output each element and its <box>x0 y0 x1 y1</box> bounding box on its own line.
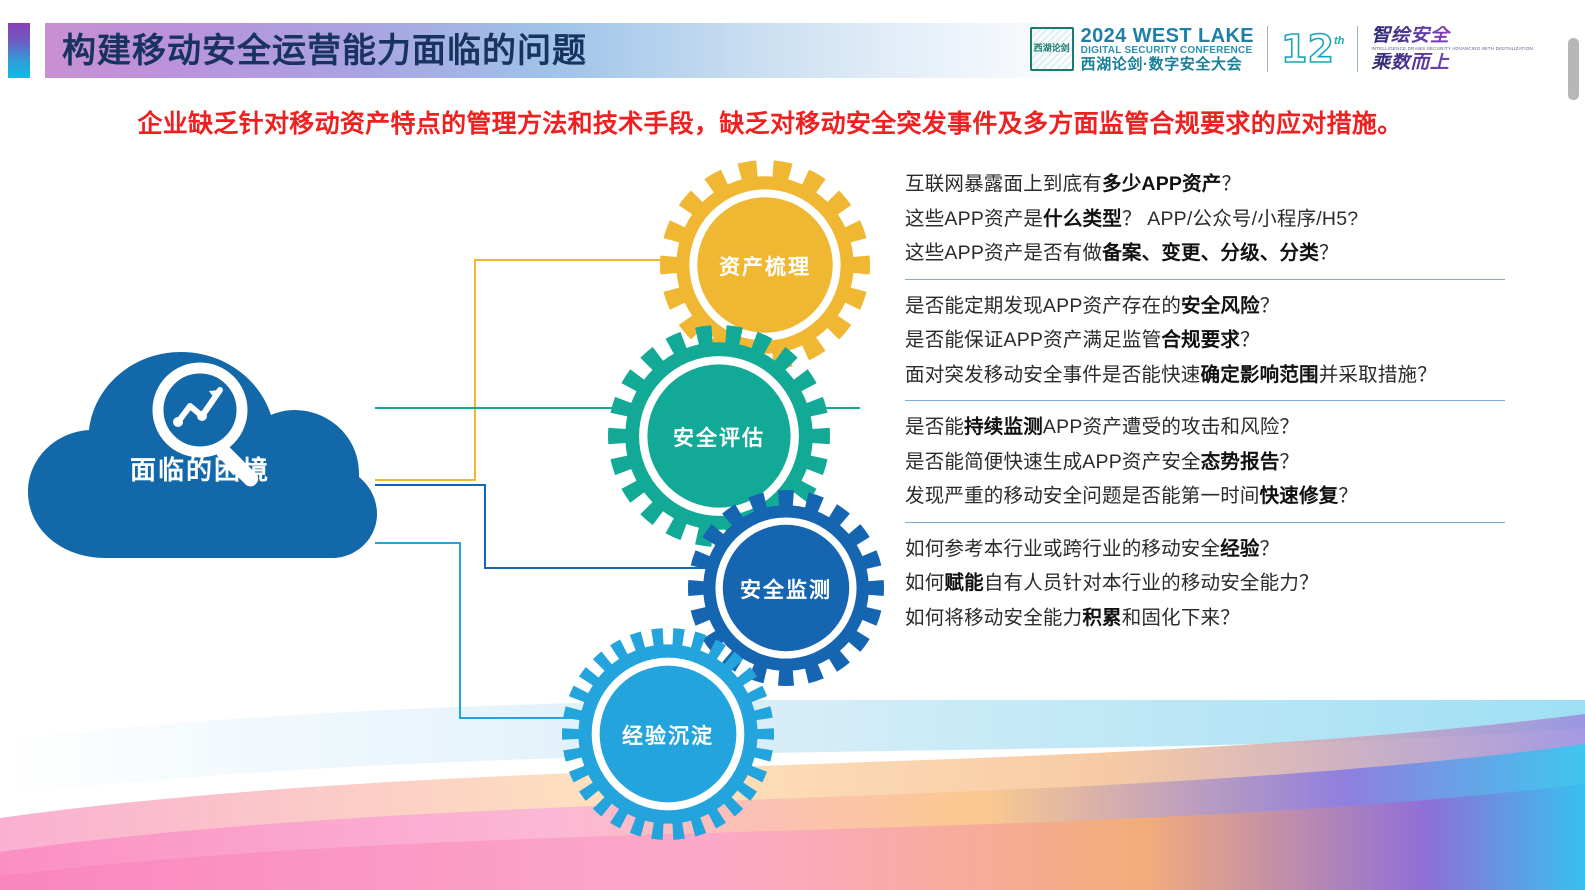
question-block-4: 如何参考本行业或跨行业的移动安全经验？如何赋能自有人员针对本行业的移动安全能力？… <box>905 540 1505 629</box>
plain-text: ？ <box>1260 538 1280 560</box>
block-divider <box>905 400 1505 401</box>
west-lake-logo: 西湖论剑 2024 WEST LAKE DIGITAL SECURITY CON… <box>1030 26 1254 72</box>
plain-text: 这些APP资产是否有做 <box>905 242 1102 264</box>
logo-divider-1 <box>1267 26 1268 72</box>
highlight-text: 经验 <box>1220 538 1259 560</box>
highlight-text: 持续监测 <box>964 416 1043 438</box>
highlight-text: 备案、变更、分级、分类 <box>1102 242 1319 264</box>
logo-line-1: 2024 WEST LAKE <box>1081 26 1254 46</box>
plain-text: 面对突发移动安全事件是否能快速 <box>905 364 1201 386</box>
highlight-text: 多少APP资产 <box>1102 173 1222 195</box>
gear-label-2: 安全评估 <box>608 422 830 452</box>
slogan-line-2: 乘数而上 <box>1371 53 1533 72</box>
gear-label-1: 资产梳理 <box>660 251 870 281</box>
gear-label-3: 安全监测 <box>688 574 884 604</box>
plain-text: 互联网暴露面上到底有 <box>905 173 1102 195</box>
plain-text: ？ <box>1222 173 1242 195</box>
plain-text: 这些APP资产是 <box>905 208 1043 230</box>
slogan-logo: 智绘安全 INTELLIGENCE DRAWS SECURITY ADVANCI… <box>1371 26 1533 72</box>
highlight-text: 态势报告 <box>1201 451 1280 473</box>
question-blocks: 互联网暴露面上到底有多少APP资产？这些APP资产是什么类型？ APP/公众号/… <box>905 175 1505 643</box>
highlight-text: 确定影响范围 <box>1201 364 1319 386</box>
scrollbar-thumb[interactable] <box>1568 38 1579 100</box>
conference-logos: 西湖论剑 2024 WEST LAKE DIGITAL SECURITY CON… <box>1030 18 1533 80</box>
title-accent-bar <box>8 23 30 78</box>
plain-text: 是否能定期发现APP资产存在的 <box>905 295 1181 317</box>
page-title: 构建移动安全运营能力面临的问题 <box>62 26 587 76</box>
highlight-text: 积累 <box>1082 607 1121 629</box>
question-line: 是否能持续监测APP资产遭受的攻击和风险？ <box>905 418 1505 438</box>
question-line: 这些APP资产是什么类型？ APP/公众号/小程序/H5? <box>905 210 1505 230</box>
plain-text: ？ <box>1260 295 1280 317</box>
question-line: 是否能简便快速生成APP资产安全态势报告？ <box>905 453 1505 473</box>
question-line: 互联网暴露面上到底有多少APP资产？ <box>905 175 1505 195</box>
plain-text: ？ <box>1240 329 1260 351</box>
plain-text: 如何参考本行业或跨行业的移动安全 <box>905 538 1220 560</box>
highlight-text: 什么类型 <box>1043 208 1122 230</box>
edition-number: 12 <box>1281 32 1334 67</box>
question-line: 面对突发移动安全事件是否能快速确定影响范围并采取措施？ <box>905 366 1505 386</box>
highlight-text: 合规要求 <box>1161 329 1240 351</box>
plain-text: 是否能保证APP资产满足监管 <box>905 329 1161 351</box>
plain-text: APP资产遭受的攻击和风险？ <box>1043 416 1299 438</box>
edition-badge: 12 th <box>1281 32 1344 67</box>
cloud-label: 面临的困境 <box>10 450 390 487</box>
logo-line-3: 西湖论剑·数字安全大会 <box>1081 57 1254 72</box>
plain-text: 发现严重的移动安全问题是否能第一时间 <box>905 485 1260 507</box>
plain-text: 如何将移动安全能力 <box>905 607 1082 629</box>
plain-text: ？ APP/公众号/小程序/H5? <box>1122 208 1358 230</box>
plain-text: ？ <box>1338 485 1358 507</box>
plain-text: ？ <box>1280 451 1300 473</box>
highlight-text: 安全风险 <box>1181 295 1260 317</box>
subtitle-statement: 企业缺乏针对移动资产特点的管理方法和技术手段，缺乏对移动安全突发事件及多方面监管… <box>0 104 1540 140</box>
question-block-2: 是否能定期发现APP资产存在的安全风险？是否能保证APP资产满足监管合规要求？面… <box>905 297 1505 386</box>
plain-text: 是否能简便快速生成APP资产安全 <box>905 451 1201 473</box>
logo-divider-2 <box>1357 26 1358 72</box>
plain-text: 并采取措施？ <box>1319 364 1437 386</box>
question-line: 发现严重的移动安全问题是否能第一时间快速修复？ <box>905 487 1505 507</box>
question-line: 是否能定期发现APP资产存在的安全风险？ <box>905 297 1505 317</box>
cloud-shape <box>10 320 390 570</box>
highlight-text: 快速修复 <box>1260 485 1339 507</box>
gear-4[interactable]: 经验沉淀 <box>562 628 774 840</box>
question-line: 是否能保证APP资产满足监管合规要求？ <box>905 331 1505 351</box>
slogan-line-1: 智绘安全 <box>1371 26 1533 45</box>
plain-text: 是否能 <box>905 416 964 438</box>
plain-text: 自有人员针对本行业的移动安全能力？ <box>984 572 1319 594</box>
west-lake-seal-icon: 西湖论剑 <box>1030 27 1074 71</box>
question-block-1: 互联网暴露面上到底有多少APP资产？这些APP资产是什么类型？ APP/公众号/… <box>905 175 1505 264</box>
slide-header: 构建移动安全运营能力面临的问题 西湖论剑 2024 WEST LAKE DIGI… <box>0 0 1585 95</box>
gear-label-4: 经验沉淀 <box>562 720 774 750</box>
block-divider <box>905 279 1505 280</box>
edition-suffix: th <box>1334 35 1344 47</box>
question-line: 如何赋能自有人员针对本行业的移动安全能力？ <box>905 574 1505 594</box>
logo-line-2: DIGITAL SECURITY CONFERENCE <box>1081 46 1254 56</box>
block-divider <box>905 522 1505 523</box>
plain-text: 如何 <box>905 572 944 594</box>
slogan-subtext: INTELLIGENCE DRAWS SECURITY ADVANCING WI… <box>1371 46 1533 52</box>
question-line: 这些APP资产是否有做备案、变更、分级、分类？ <box>905 244 1505 264</box>
question-block-3: 是否能持续监测APP资产遭受的攻击和风险？是否能简便快速生成APP资产安全态势报… <box>905 418 1505 507</box>
highlight-text: 赋能 <box>944 572 983 594</box>
plain-text: ？ <box>1319 242 1339 264</box>
question-line: 如何参考本行业或跨行业的移动安全经验？ <box>905 540 1505 560</box>
question-line: 如何将移动安全能力积累和固化下来？ <box>905 609 1505 629</box>
plain-text: 和固化下来？ <box>1122 607 1240 629</box>
